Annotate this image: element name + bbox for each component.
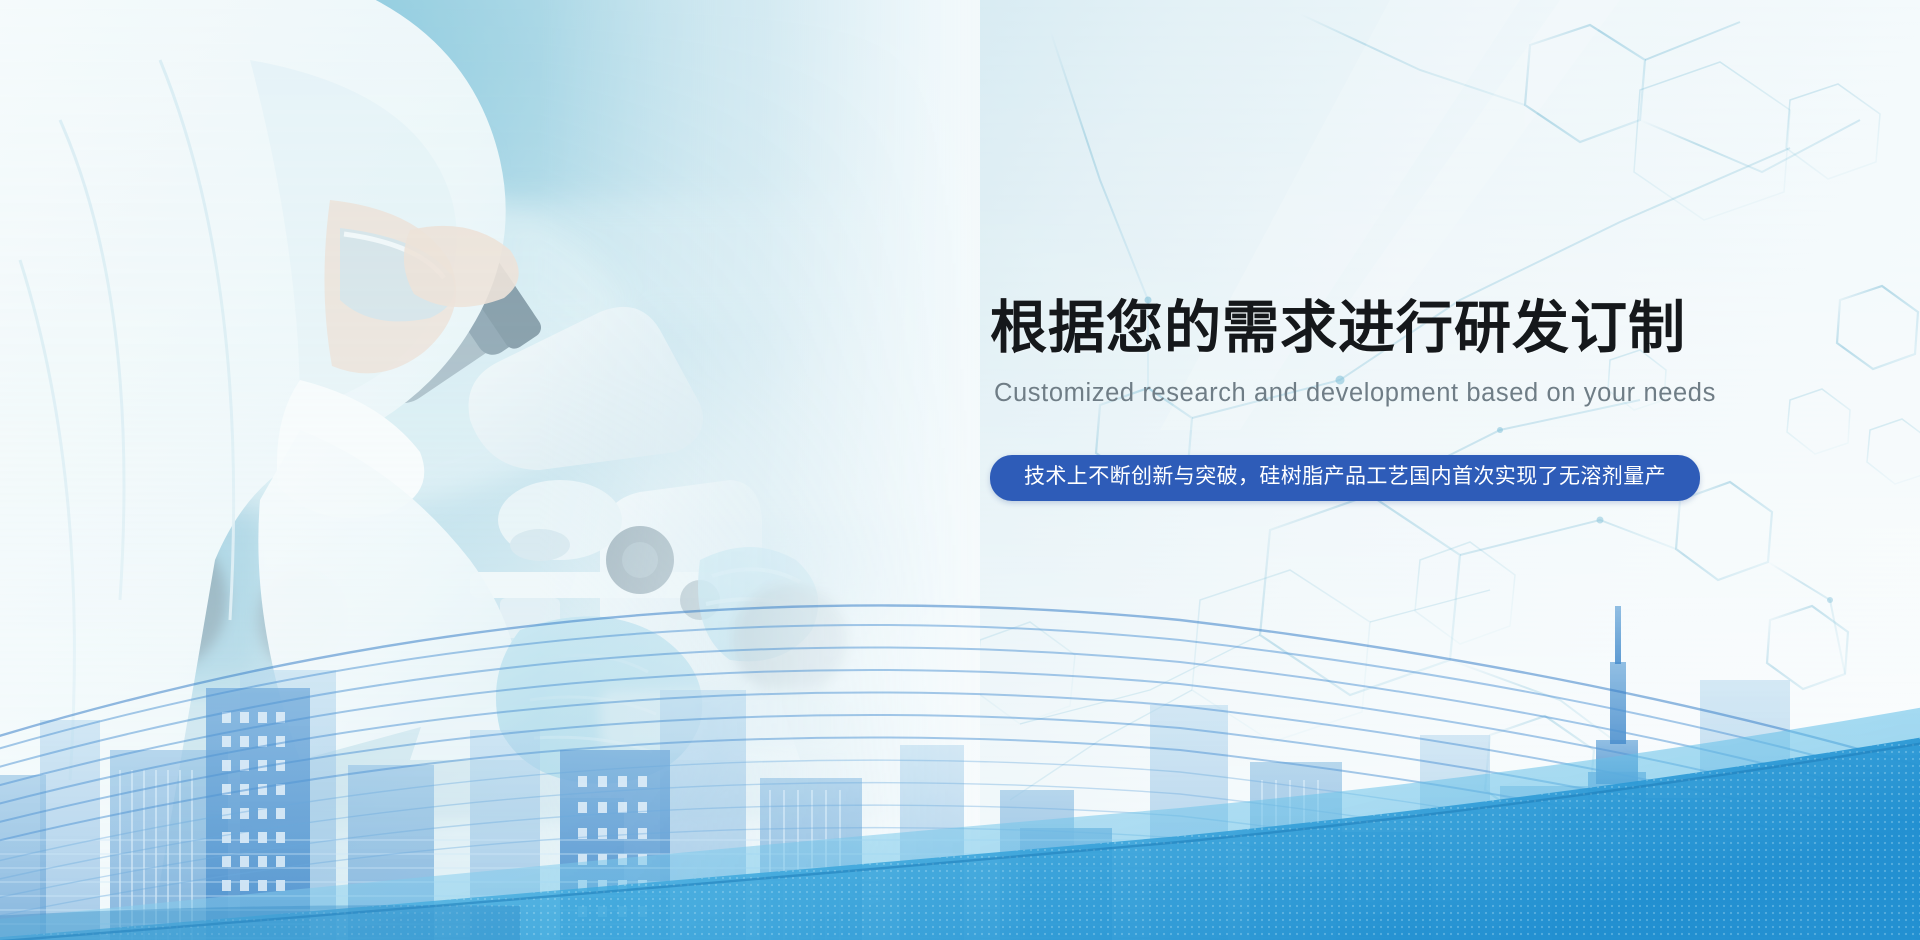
banner-subheadline: Customized research and development base… [994,379,1750,407]
banner-copy-block: 根据您的需求进行研发订制 Customized research and dev… [990,300,1750,501]
banner-ribbon-badge: 技术上不断创新与突破，硅树脂产品工艺国内首次实现了无溶剂量产 [990,455,1700,501]
banner-headline: 根据您的需求进行研发订制 [990,300,1750,357]
bottom-wave-decoration [0,680,1920,940]
banner-stage: 根据您的需求进行研发订制 Customized research and dev… [0,0,1920,940]
